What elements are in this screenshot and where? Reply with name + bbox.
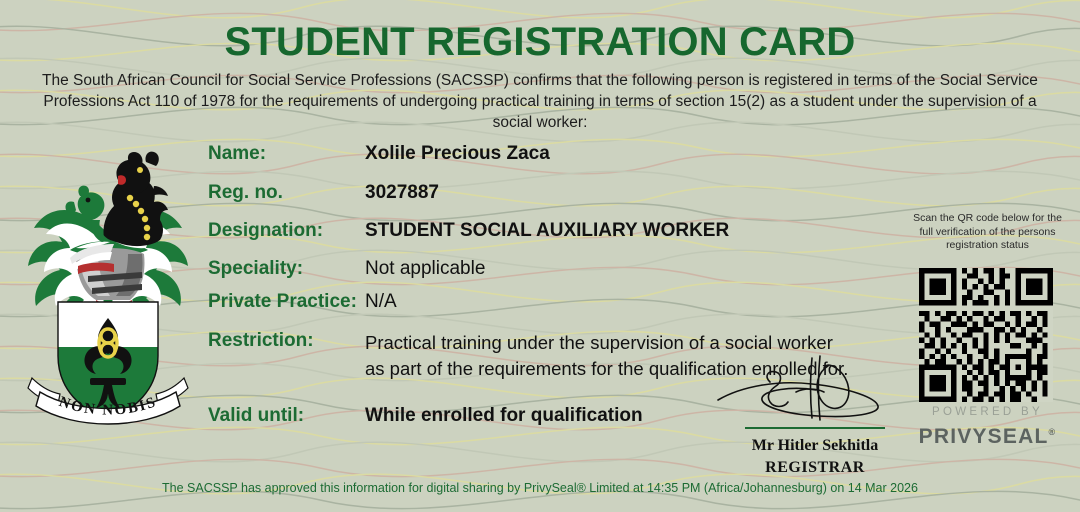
- qr-instruction-text: Scan the QR code below for the full veri…: [905, 212, 1070, 253]
- value-name: Xolile Precious Zaca: [365, 143, 550, 165]
- value-reg-no: 3027887: [365, 182, 439, 204]
- student-registration-card: STUDENT REGISTRATION CARD The South Afri…: [0, 0, 1080, 512]
- label-valid-until: Valid until:: [208, 405, 365, 427]
- field-row-private-practice: Private Practice: N/A: [208, 291, 908, 330]
- registrar-role: REGISTRAR: [700, 457, 930, 479]
- privyseal-branding: POWERED BY PRIVYSEAL®: [905, 405, 1070, 449]
- field-row-reg-no: Reg. no. 3027887: [208, 182, 908, 220]
- approval-footer-text: The SACSSP has approved this information…: [0, 481, 1080, 495]
- value-private-practice: N/A: [365, 291, 397, 313]
- field-row-name: Name: Xolile Precious Zaca: [208, 143, 908, 182]
- field-row-designation: Designation: STUDENT SOCIAL AUXILIARY WO…: [208, 220, 908, 258]
- registered-trademark-icon: ®: [1048, 427, 1056, 437]
- field-row-speciality: Speciality: Not applicable: [208, 258, 908, 291]
- label-reg-no: Reg. no.: [208, 182, 365, 204]
- intro-paragraph: The South African Council for Social Ser…: [30, 70, 1050, 133]
- label-name: Name:: [208, 143, 365, 165]
- handwritten-signature-icon: [700, 352, 930, 422]
- signature-line: [745, 427, 885, 429]
- label-designation: Designation:: [208, 220, 365, 242]
- privyseal-name: PRIVYSEAL: [919, 425, 1049, 448]
- sacssp-coat-of-arms-icon: NON NOBIS: [18, 142, 198, 427]
- label-speciality: Speciality:: [208, 258, 365, 280]
- verification-qr-code[interactable]: [919, 268, 1053, 402]
- registrar-name: Mr Hitler Sekhitla: [700, 435, 930, 457]
- label-private-practice: Private Practice:: [208, 291, 365, 313]
- value-designation: STUDENT SOCIAL AUXILIARY WORKER: [365, 220, 729, 242]
- label-restriction: Restriction:: [208, 330, 365, 352]
- powered-by-label: POWERED BY: [905, 405, 1070, 420]
- value-valid-until: While enrolled for qualification: [365, 405, 643, 427]
- privyseal-wordmark: PRIVYSEAL®: [905, 420, 1070, 449]
- signature-block: Mr Hitler Sekhitla REGISTRAR: [700, 352, 930, 479]
- page-title: STUDENT REGISTRATION CARD: [0, 20, 1080, 65]
- value-speciality: Not applicable: [365, 258, 485, 280]
